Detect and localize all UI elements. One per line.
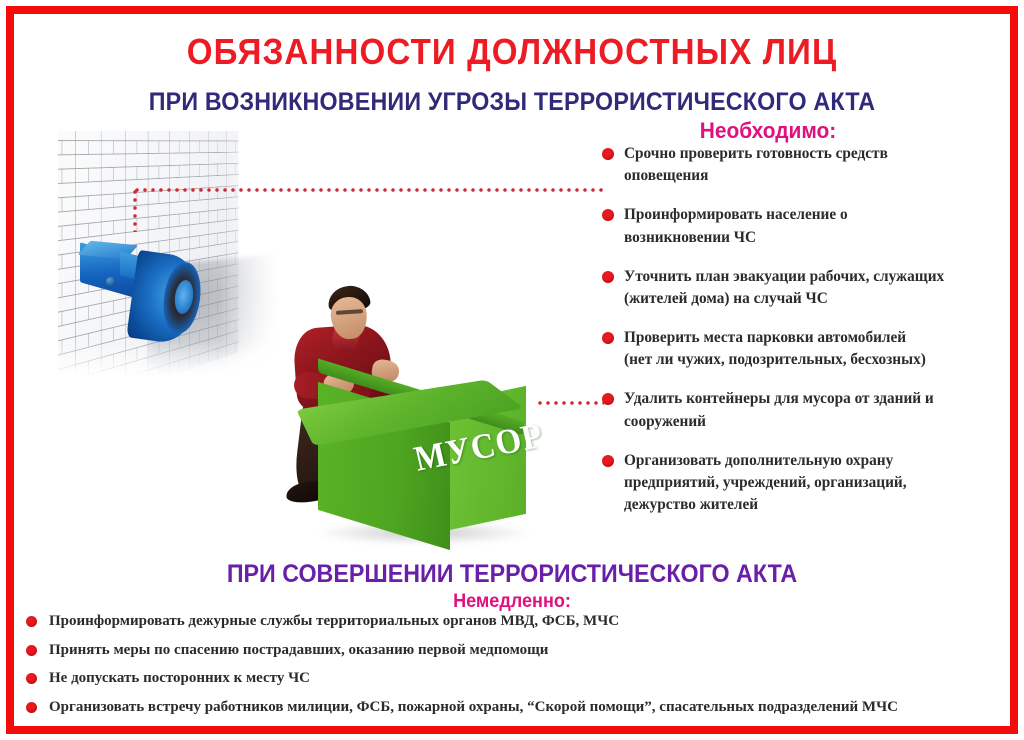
connector-line-dumpster bbox=[536, 401, 604, 405]
list-item: Принять меры по спасению пострадавших, о… bbox=[26, 641, 1016, 661]
list-item: Не допускать посторонних к месту ЧС bbox=[26, 669, 1016, 689]
bullet-dot-icon bbox=[602, 455, 614, 467]
list-item-label: Срочно проверить готовность средств опов… bbox=[624, 143, 888, 187]
list-item-label: Проинформировать дежурные службы террито… bbox=[49, 612, 619, 632]
section-heading-threat: ПРИ ВОЗНИКНОВЕНИИ УГРОЗЫ ТЕРРОРИСТИЧЕСКО… bbox=[36, 88, 988, 117]
bullet-dot-icon bbox=[26, 702, 37, 713]
list-item-label: Организовать дополнительную охрану предп… bbox=[624, 450, 907, 517]
bullet-dot-icon bbox=[26, 616, 37, 627]
list-item-label: Организовать встречу работников милиции,… bbox=[49, 698, 898, 718]
list-item: Организовать встречу работников милиции,… bbox=[26, 698, 1016, 718]
list-item: Удалить контейнеры для мусора от зданий … bbox=[602, 388, 1022, 432]
list-item: Проинформировать дежурные службы террито… bbox=[26, 612, 1016, 632]
bullet-dot-icon bbox=[602, 209, 614, 221]
list-item-label: Уточнить план эвакуации рабочих, служащи… bbox=[624, 266, 944, 310]
section-heading-attack: ПРИ СОВЕРШЕНИИ ТЕРРОРИСТИЧЕСКОГО АКТА bbox=[36, 560, 988, 589]
list-item-label: Проверить места парковки автомобилей (не… bbox=[624, 327, 926, 371]
garbage-dumpster: МУСОР bbox=[310, 350, 560, 550]
list-item: Проинформировать население о возникновен… bbox=[602, 204, 1022, 248]
threat-bullet-list: Срочно проверить готовность средств опов… bbox=[602, 143, 1022, 533]
list-item: Организовать дополнительную охрану предп… bbox=[602, 450, 1022, 517]
bullet-dot-icon bbox=[602, 148, 614, 160]
page-title: ОБЯЗАННОСТИ ДОЛЖНОСТНЫХ ЛИЦ bbox=[41, 31, 983, 73]
bullet-dot-icon bbox=[26, 673, 37, 684]
kicker-neobhodimo: Необходимо: bbox=[626, 118, 911, 144]
poster-canvas: ОБЯЗАННОСТИ ДОЛЖНОСТНЫХ ЛИЦ ПРИ ВОЗНИКНО… bbox=[0, 0, 1024, 740]
connector-line-speaker-horizontal bbox=[133, 188, 605, 192]
attack-bullet-list: Проинформировать дежурные службы террито… bbox=[26, 612, 1016, 726]
bullet-dot-icon bbox=[602, 393, 614, 405]
bullet-dot-icon bbox=[26, 645, 37, 656]
bullet-dot-icon bbox=[602, 332, 614, 344]
connector-line-speaker-vertical bbox=[133, 188, 137, 232]
list-item-label: Не допускать посторонних к месту ЧС bbox=[49, 669, 310, 689]
list-item: Уточнить план эвакуации рабочих, служащи… bbox=[602, 266, 1022, 310]
kicker-nemedlenno: Немедленно: bbox=[26, 591, 999, 613]
list-item-label: Принять меры по спасению пострадавших, о… bbox=[49, 641, 548, 661]
list-item-label: Удалить контейнеры для мусора от зданий … bbox=[624, 388, 934, 432]
list-item-label: Проинформировать население о возникновен… bbox=[624, 204, 848, 248]
list-item: Проверить места парковки автомобилей (не… bbox=[602, 327, 1022, 371]
loudspeaker-icon bbox=[80, 240, 200, 350]
speaker-bolt bbox=[106, 277, 115, 286]
list-item: Срочно проверить готовность средств опов… bbox=[602, 143, 1022, 187]
bullet-dot-icon bbox=[602, 271, 614, 283]
